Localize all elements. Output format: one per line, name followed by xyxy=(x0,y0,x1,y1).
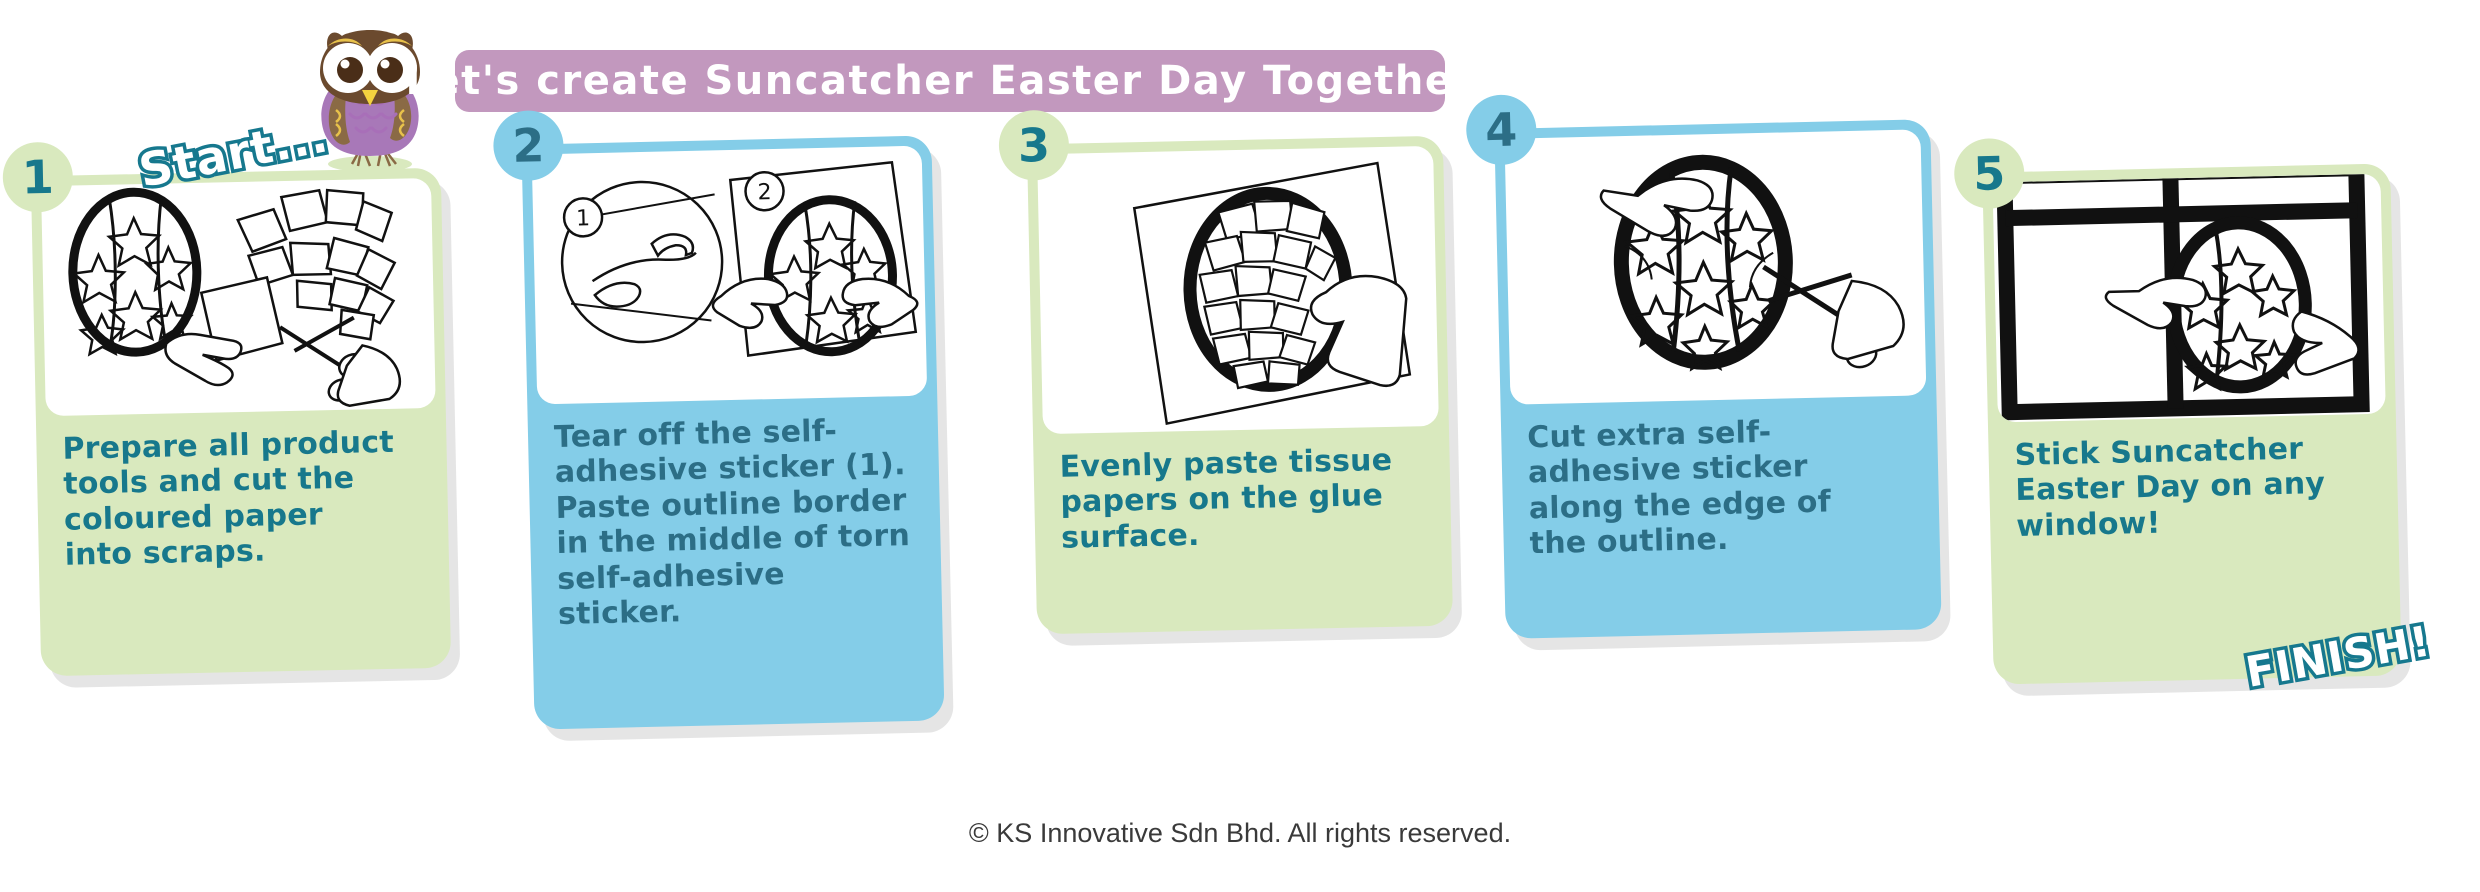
step-caption-2: Tear off the self- adhesive sticker (1).… xyxy=(537,396,932,643)
step-illustration-1 xyxy=(41,178,436,416)
page-title-banner: Let's create Suncatcher Easter Day Toget… xyxy=(455,50,1445,112)
step-card-3: 3 xyxy=(1027,136,1453,635)
step-card-1: 1 xyxy=(31,168,451,676)
footer-copyright: © KS Innovative Sdn Bhd. All rights rese… xyxy=(0,818,2480,849)
step-illustration-2: 1 2 xyxy=(532,146,928,405)
svg-text:2: 2 xyxy=(757,180,772,205)
step-caption-5: Stick Suncatcher Easter Day on any windo… xyxy=(1998,414,2389,555)
step-illustration-4 xyxy=(1504,129,1926,404)
step-caption-1: Prepare all product tools and cut the co… xyxy=(46,408,439,584)
step-illustration-5 xyxy=(1992,174,2385,423)
step-caption-4: Cut extra self- adhesive sticker along t… xyxy=(1511,395,1931,572)
step-caption-3: Evenly paste tissue papers on the glue s… xyxy=(1043,426,1442,566)
step-card-2: 2 1 2 xyxy=(521,135,944,729)
svg-text:1: 1 xyxy=(576,206,591,231)
step-illustration-3 xyxy=(1037,146,1439,434)
step-card-4: 4 Cut e xyxy=(1494,119,1941,639)
step-card-5: 5 Stick Suncatcher Easter Day on any win… xyxy=(1982,163,2402,684)
page-title: Let's create Suncatcher Easter Day Toget… xyxy=(406,58,1495,104)
